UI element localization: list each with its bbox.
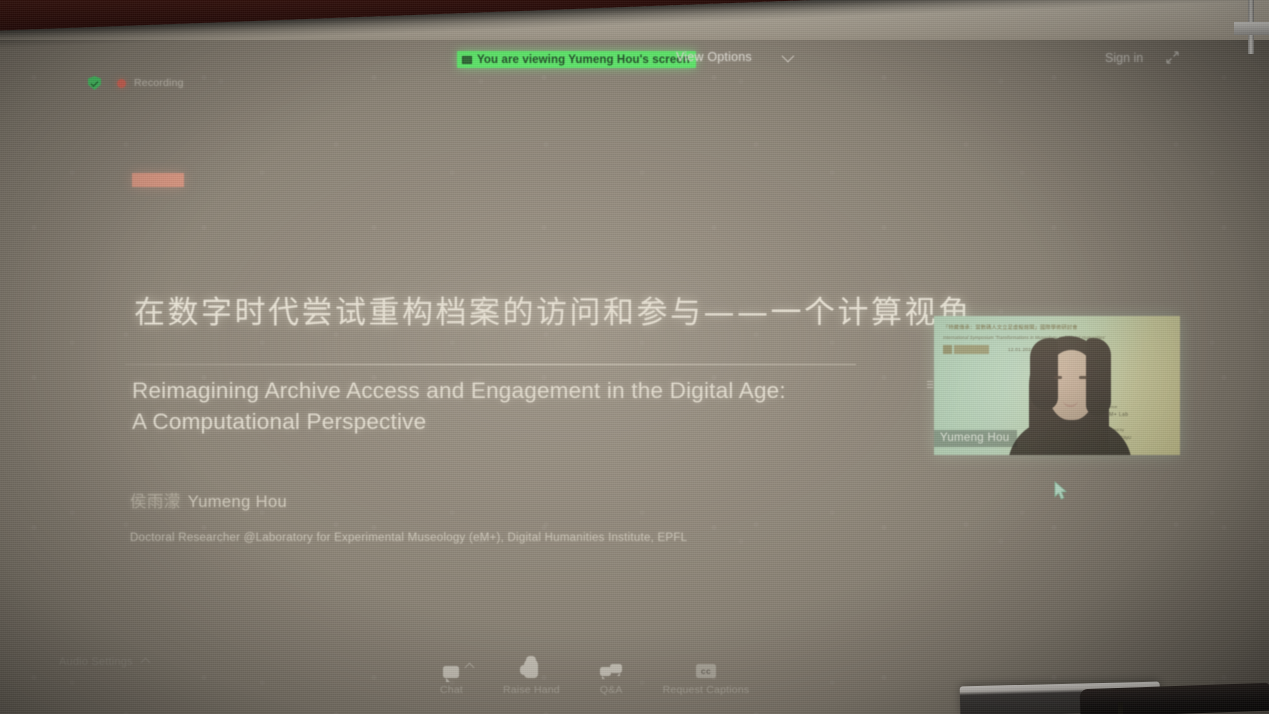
raise-hand-label: Raise Hand [503,684,560,696]
raise-hand-button[interactable]: Raise Hand [503,658,560,696]
presenter-hair-left [1030,338,1058,410]
qa-label: Q&A [600,684,623,696]
caret-up-icon [140,657,150,667]
participant-name-label: Yumeng Hou [934,430,1017,447]
meeting-status-group: Recording [88,76,184,90]
recording-indicator[interactable]: Recording [117,77,184,89]
presenter-eye-right [1079,376,1087,379]
chat-label: Chat [440,684,463,696]
chat-bubble-icon [443,658,459,678]
institution-logo-icon [943,345,989,354]
projector-mount-plate [1234,22,1269,35]
presenter-hair-right [1086,338,1111,416]
mouse-pointer-icon [1054,481,1068,501]
screen-share-banner-label: You are viewing Yumeng Hou's screen [477,54,690,66]
request-captions-button[interactable]: cc Request Captions [663,658,750,696]
drag-handle-icon[interactable] [926,366,934,402]
sign-in-label: Sign in [1105,51,1143,65]
view-options-label: View Options [676,50,752,64]
chair-leg [1118,702,1123,714]
audio-settings-label: Audio Settings [59,656,133,668]
presenter-video-tile[interactable]: 「特藏傳承：當數碼人文立足虛擬館閣」國際學術研討會 International … [934,316,1180,455]
presenter-eye-left [1054,376,1062,379]
meeting-toolbar: Chat Raise Hand Q&A cc Request Capti [440,658,749,696]
poster-title-chinese: 「特藏傳承：當數碼人文立足虛擬館閣」國際學術研討會 [943,324,1078,331]
chat-button[interactable]: Chat [440,658,463,696]
sign-in-group[interactable]: Sign in [1105,50,1180,65]
shield-check-icon[interactable] [88,76,101,90]
closed-captions-icon: cc [696,658,716,678]
qa-bubbles-icon [600,658,622,678]
audio-settings-button[interactable]: Audio Settings [59,656,149,668]
qa-button[interactable]: Q&A [600,658,623,696]
poster-venue-value: eM+ Lab [1106,412,1128,418]
chat-caret-up-icon[interactable] [465,663,475,673]
raised-hand-icon [524,658,538,678]
monitor-share-icon [462,56,472,64]
record-dot-icon [117,79,126,88]
screenshot-photo: 在数字时代尝试重构档案的访问和参与——一个计算视角 Reimagining Ar… [0,0,1269,714]
request-captions-label: Request Captions [663,684,750,696]
cc-badge: cc [696,664,716,678]
recording-label: Recording [134,77,184,89]
chair-back [1080,683,1269,714]
exit-fullscreen-icon[interactable] [1165,50,1180,65]
view-options-button[interactable]: View Options [676,50,791,64]
screen-share-banner[interactable]: You are viewing Yumeng Hou's screen [457,51,696,68]
